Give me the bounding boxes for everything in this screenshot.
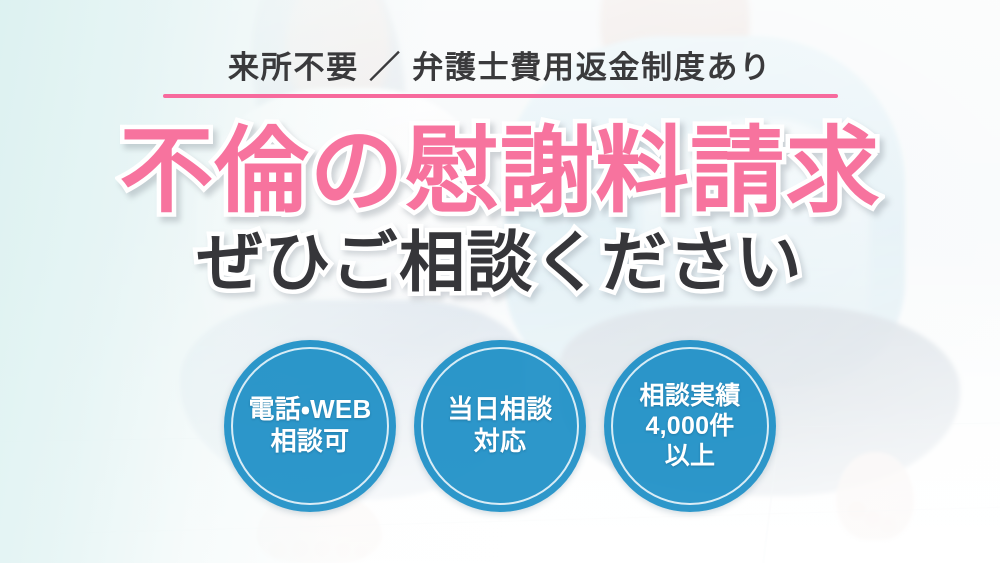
headline: 不倫の慰謝料請求 bbox=[0, 124, 1000, 218]
banner-content: 来所不要 ／ 弁護士費用返金制度あり 不倫の慰謝料請求 ぜひご相談ください 電話… bbox=[0, 0, 1000, 563]
badge-same-day[interactable]: 当日相談 対応 bbox=[414, 340, 586, 512]
badge-same-day-label: 当日相談 対応 bbox=[441, 394, 558, 457]
subheadline: ぜひご相談ください bbox=[0, 229, 1000, 295]
badge-phone-web[interactable]: 電話・WEB 相談可 bbox=[224, 340, 396, 512]
pink-divider-rule bbox=[163, 94, 838, 98]
badge-phone-web-label: 電話・WEB 相談可 bbox=[242, 394, 377, 457]
promo-banner: 来所不要 ／ 弁護士費用返金制度あり 不倫の慰謝料請求 ぜひご相談ください 電話… bbox=[0, 0, 1000, 563]
badge-track-record-label: 相談実績 4,000件 以上 bbox=[633, 381, 746, 471]
badge-track-record[interactable]: 相談実績 4,000件 以上 bbox=[604, 340, 776, 512]
eyebrow-text: 来所不要 ／ 弁護士費用返金制度あり bbox=[0, 42, 1000, 87]
badge-row: 電話・WEB 相談可 当日相談 対応 相談実績 4,000件 以上 bbox=[0, 340, 1000, 512]
